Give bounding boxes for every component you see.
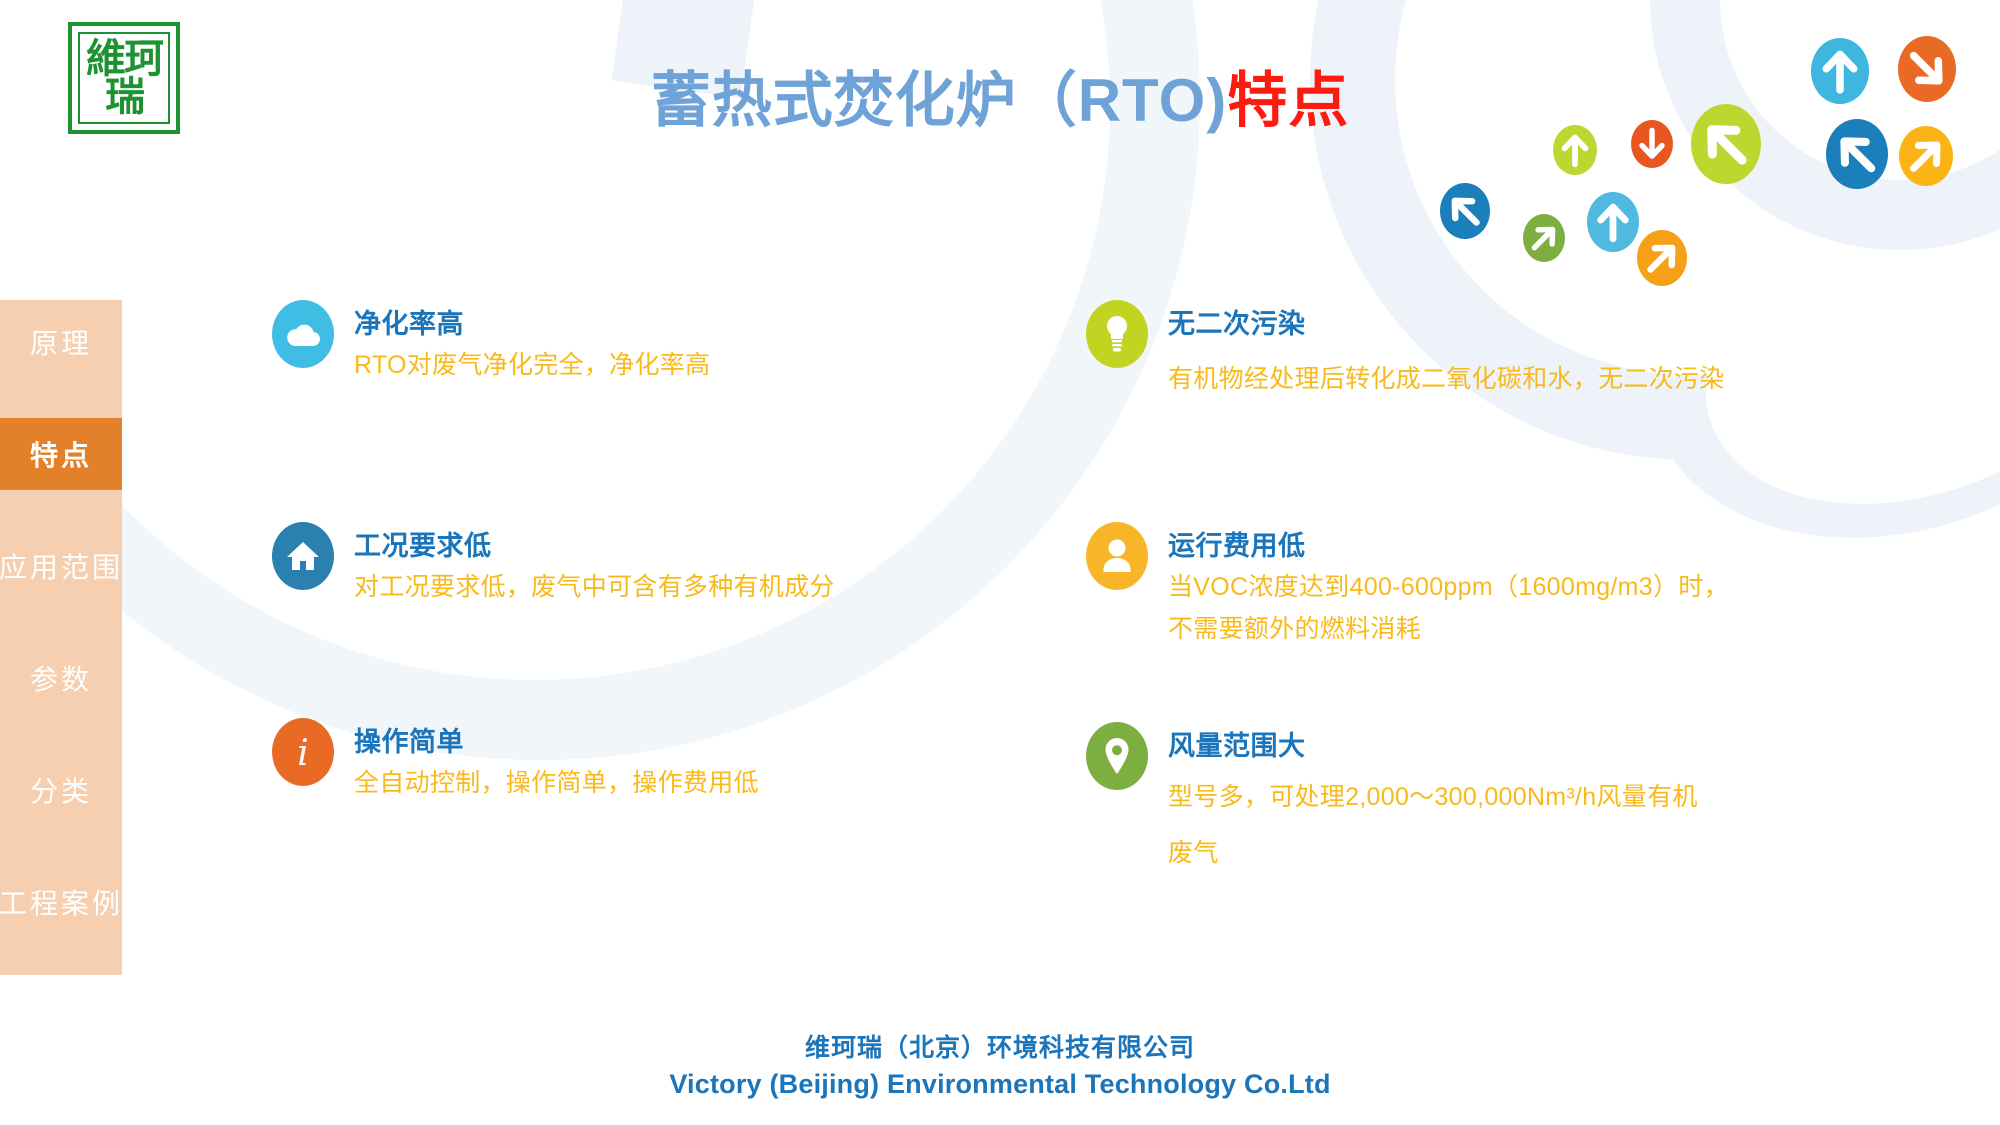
arrow-up-left-green-large [1691,104,1761,184]
feature-title: 风量范围大 [1168,724,1306,763]
feature-description-line: 有机物经处理后转化成二氧化碳和水，无二次污染 [1168,362,1725,397]
sidebar-item-label: 参数 [30,658,92,698]
arrow-up-right-green-small [1523,214,1565,262]
feature-description-line: 全自动控制，操作简单，操作费用低 [354,766,759,801]
home-icon [272,522,334,590]
footer-company-en: Victory (Beijing) Environmental Technolo… [0,1066,2000,1102]
sidebar-item-4[interactable]: 参数 [0,642,122,714]
slide-footer: 维珂瑞（北京）环境科技有限公司 Victory (Beijing) Enviro… [0,1032,2000,1102]
arrow-up-green-small [1553,125,1597,175]
lightbulb-icon [1086,300,1148,368]
feature-description-line: 当VOC浓度达到400-600ppm（1600mg/m3）时， [1168,570,1729,605]
feature-description-line: 不需要额外的燃料消耗 [1168,612,1421,647]
slide-title-main: 蓄热式焚化炉（RTO) [651,67,1228,134]
sidebar-item-6[interactable]: 工程案例 [0,866,122,938]
sidebar-item-label: 分类 [30,770,92,810]
svg-text:i: i [297,733,309,772]
arrow-up-left-darkblue-large [1826,119,1888,189]
bg-swoosh-inner [1667,155,2000,554]
arrow-up-lightblue-large [1811,38,1869,104]
sidebar-item-label: 特点 [30,434,92,474]
feature-title: 运行费用低 [1168,524,1306,563]
slide-title-highlight: 特点 [1227,67,1349,134]
arrow-up-right-amber [1899,126,1953,186]
arrow-down-orange-small [1631,120,1673,168]
feature-title: 操作简单 [354,720,464,759]
cloud-icon [272,300,334,368]
feature-description-line: 对工况要求低，废气中可含有多种有机成分 [354,570,835,605]
sidebar-item-label: 应用范围 [0,546,123,586]
feature-description-line: 废气 [1168,836,1219,871]
feature-title: 无二次污染 [1168,302,1306,341]
sidebar-item-1[interactable]: 原理 [0,306,122,378]
sidebar-item-5[interactable]: 分类 [0,754,122,826]
arrow-down-right-orange [1898,36,1956,102]
arrow-up-lightblue [1587,192,1639,252]
section-sidebar[interactable]: 原理特点应用范围参数分类工程案例 [0,300,122,975]
sidebar-item-label: 原理 [30,322,92,362]
feature-title: 净化率高 [354,302,464,341]
footer-company-cn: 维珂瑞（北京）环境科技有限公司 [0,1032,2000,1066]
presentation-slide: 維珂 瑞 蓄热式焚化炉（RTO)特点 原理特点应用范围参数分类工程案例 净化率高… [0,0,2000,1125]
feature-title: 工况要求低 [354,524,492,563]
arrow-up-left-blue [1440,183,1490,239]
sidebar-item-3[interactable]: 应用范围 [0,530,122,602]
feature-description-line: RTO对废气净化完全，净化率高 [354,348,710,383]
feature-description-line: 型号多，可处理2,000～300,000Nm³/h风量有机 [1168,780,1698,815]
user-icon [1086,522,1148,590]
sidebar-item-label: 工程案例 [0,882,123,922]
info-icon: i [272,718,334,786]
arrow-up-right-orange-small [1637,230,1687,286]
map-pin-icon [1086,722,1148,790]
sidebar-item-2[interactable]: 特点 [0,418,122,490]
